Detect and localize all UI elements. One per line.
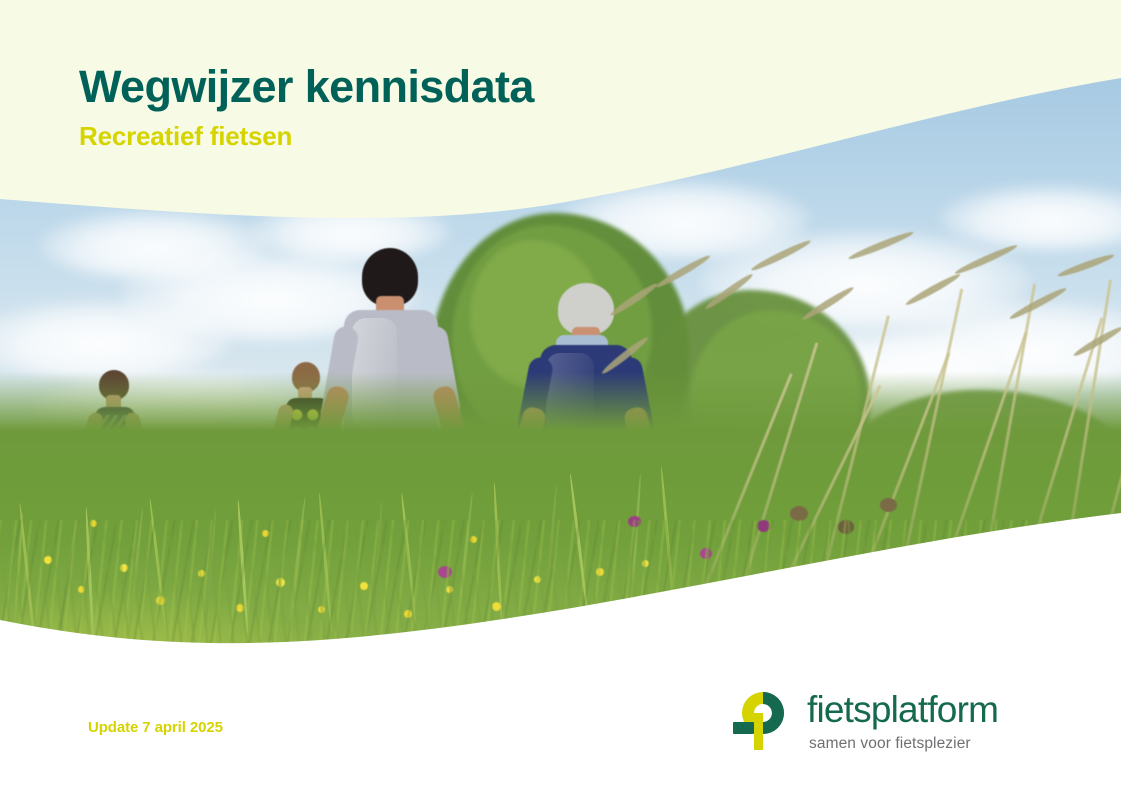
logo-wordmark: fietsplatform	[807, 691, 998, 728]
title-block: Wegwijzer kennisdata Recreatief fietsen	[79, 62, 534, 151]
page-title: Wegwijzer kennisdata	[79, 62, 534, 112]
fietsplatform-p-mark-icon	[731, 690, 795, 752]
dried-thistle	[880, 498, 897, 512]
update-note: Update 7 april 2025	[88, 719, 223, 736]
dried-thistle	[790, 506, 808, 521]
cover-page: Wegwijzer kennisdata Recreatief fietsen …	[0, 0, 1121, 792]
page-subtitle: Recreatief fietsen	[79, 122, 534, 151]
logo-text-group: fietsplatform samen voor fietsplezier	[807, 688, 998, 752]
logo-tagline: samen voor fietsplezier	[809, 736, 998, 752]
fietsplatform-logo[interactable]: fietsplatform samen voor fietsplezier	[731, 688, 998, 752]
